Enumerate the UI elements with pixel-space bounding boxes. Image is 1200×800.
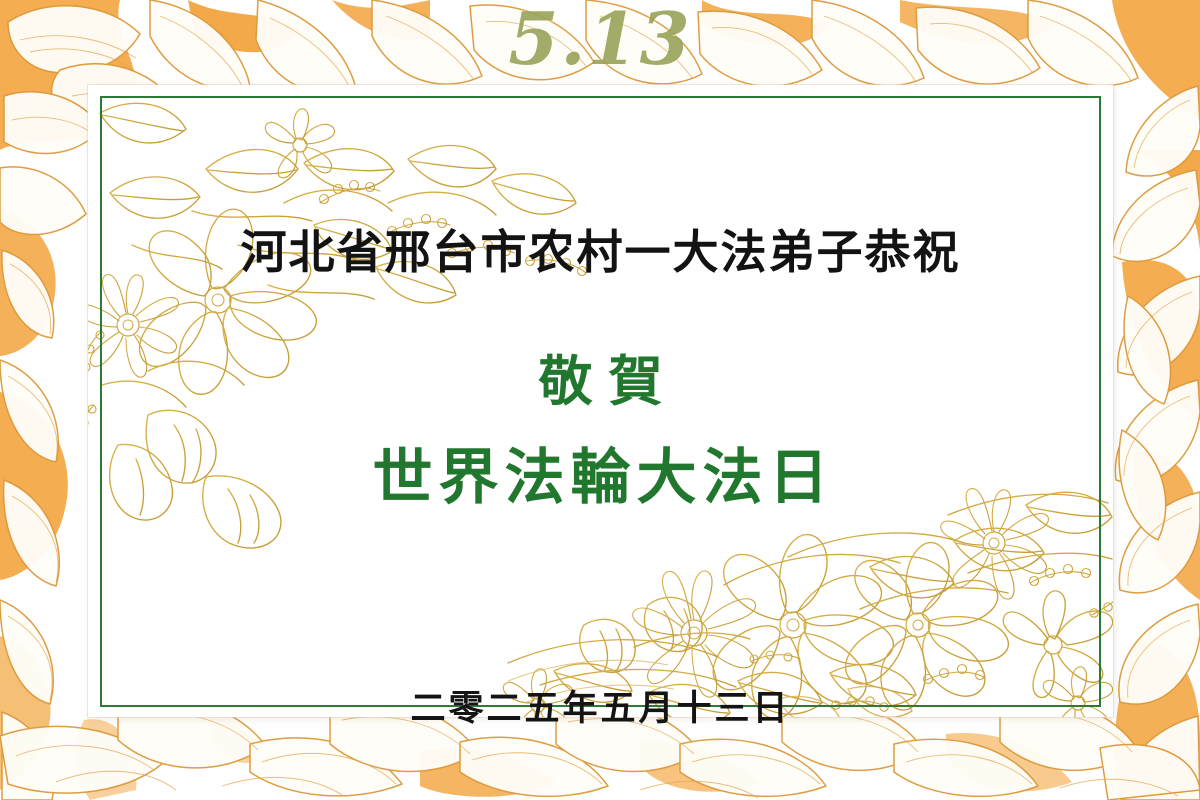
headline-text: 河北省邢台市农村一大法弟子恭祝 (88, 216, 1113, 282)
main-title-text: 世界法輪大法日 (88, 429, 1113, 516)
certificate-card: 河北省邢台市农村一大法弟子恭祝 敬賀 世界法輪大法日 二零二五年五月十三日 (88, 85, 1113, 717)
date-watermark: 5.13 (0, 0, 1200, 81)
date-text: 二零二五年五月十三日 (88, 680, 1113, 731)
greeting-text: 敬賀 (88, 337, 1113, 416)
poster-canvas: 5.13 (0, 0, 1200, 800)
